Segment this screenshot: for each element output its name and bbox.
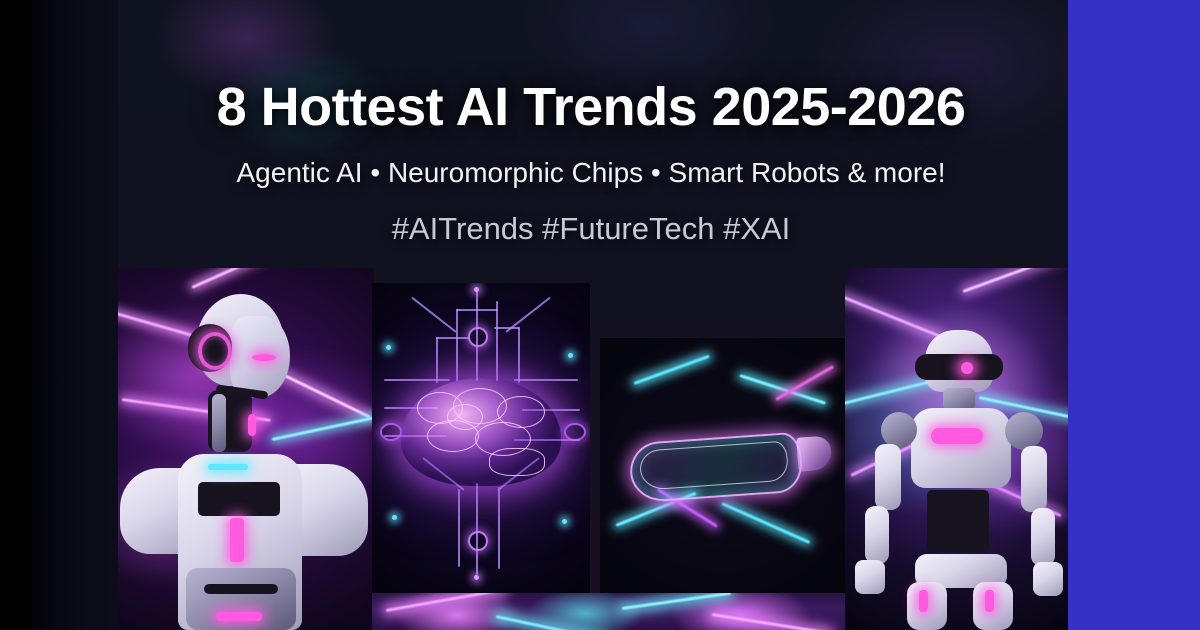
robot-upper-arm-left: [875, 444, 901, 510]
circuit-trace: [411, 297, 456, 333]
circuit-trace: [505, 297, 550, 333]
circuit-node: [386, 345, 391, 350]
robot-hand-left: [855, 560, 885, 594]
circuit-trace: [514, 379, 578, 381]
robot-forearm-right: [1031, 508, 1055, 566]
robot-visor: [915, 354, 1003, 380]
left-navy-bar: [30, 0, 118, 630]
lightning-bolt: [496, 615, 604, 630]
robot-upper-arm-right: [1021, 446, 1047, 512]
circuit-node: [474, 287, 479, 292]
android-collar-light: [208, 464, 248, 470]
android-eye-glow: [252, 354, 276, 361]
glowing-brain: [401, 378, 561, 486]
robot-forearm-left: [865, 506, 889, 564]
android-core-light: [230, 518, 244, 562]
android-belly-light: [216, 612, 262, 621]
lightning-bolt: [634, 355, 710, 385]
brain-stem-fold: [489, 448, 545, 476]
circuit-chip-icon: [468, 327, 488, 347]
humanoid-android-bust: [112, 268, 374, 630]
circuit-node: [568, 353, 573, 358]
robot-shoulder-left: [881, 412, 917, 448]
ar-smart-glasses: [600, 338, 845, 593]
robot-thigh-light-left: [919, 590, 928, 612]
android-neck-light: [248, 414, 256, 436]
robot-visor-glow-icon: [961, 362, 973, 374]
glasses-temple-arm: [796, 435, 832, 471]
circuit-node: [562, 519, 567, 524]
artwork-canvas: [112, 0, 1070, 630]
circuit-trace: [384, 379, 450, 381]
right-blue-bar: [1068, 0, 1200, 630]
android-ear-ring-icon: [198, 332, 232, 370]
smart-glasses-frame: [628, 428, 818, 503]
neuromorphic-brain-chip: [372, 283, 590, 593]
lightning-bolt: [712, 613, 831, 630]
circuit-trace: [476, 483, 478, 575]
robot-chest: [911, 408, 1011, 488]
android-chest-vent: [198, 482, 280, 516]
lightning-bolt: [622, 593, 731, 610]
circuit-trace: [518, 327, 520, 383]
robot-thigh-light-right: [985, 590, 994, 612]
lightning-bolt: [721, 502, 810, 543]
circuit-node: [392, 515, 397, 520]
brain-fold: [447, 404, 483, 430]
robot-neck: [943, 388, 975, 410]
circuit-trace: [498, 487, 500, 569]
android-neck-strut: [212, 394, 226, 452]
circuit-chip-icon: [468, 531, 488, 551]
electric-plasma-strip: [372, 593, 845, 630]
circuit-trace: [496, 301, 498, 381]
promo-banner: 8 Hottest AI Trends 2025-2026 Agentic AI…: [0, 0, 1200, 630]
circuit-trace: [456, 309, 498, 311]
left-black-bar: [0, 0, 32, 630]
circuit-trace: [458, 489, 460, 567]
full-body-smart-robot: [845, 268, 1070, 630]
robot-abdomen-vents: [927, 490, 989, 552]
circuit-chip-icon: [564, 423, 586, 441]
lightning-bolt: [386, 593, 505, 612]
circuit-trace: [436, 337, 470, 339]
circuit-trace: [436, 337, 438, 383]
circuit-node: [474, 575, 479, 580]
circuit-trace: [456, 309, 458, 381]
android-abdomen-slot: [204, 584, 278, 594]
robot-shoulder-right: [1005, 412, 1043, 450]
circuit-chip-icon: [380, 423, 402, 441]
robot-chest-light: [931, 428, 983, 444]
robot-hand-right: [1033, 562, 1063, 596]
